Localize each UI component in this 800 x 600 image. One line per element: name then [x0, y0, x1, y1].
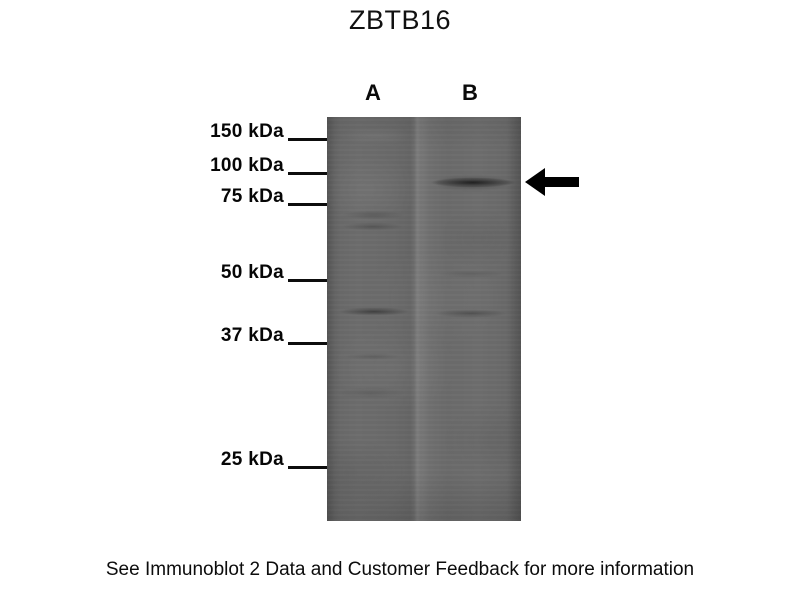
band-lane-b-85kda-halo: [423, 171, 521, 195]
marker-label-50-kda: 50 kDa: [150, 262, 284, 284]
marker-tick-100-kda: [288, 172, 327, 175]
band-lane-a-58kda: [333, 221, 415, 232]
marker-tick-37-kda: [288, 342, 327, 345]
band-lane-a-35kda: [335, 352, 411, 361]
marker-75-kda: 75 kDa: [150, 186, 330, 208]
band-lane-b-41kda: [425, 308, 517, 319]
blot-membrane: [327, 117, 521, 521]
membrane-vignette: [327, 117, 521, 521]
marker-label-150-kda: 150 kDa: [150, 121, 284, 143]
band-lane-a-62kda: [331, 209, 415, 221]
marker-tick-150-kda: [288, 138, 327, 141]
page-title: ZBTB16: [0, 4, 800, 36]
marker-25-kda: 25 kDa: [150, 449, 330, 471]
band-lane-a-smear-top: [327, 125, 419, 147]
marker-100-kda: 100 kDa: [150, 155, 330, 177]
figure-caption: See Immunoblot 2 Data and Customer Feedb…: [0, 558, 800, 582]
band-lane-a-bottom-smear: [327, 385, 415, 401]
lane-label-b: B: [450, 80, 490, 106]
marker-37-kda: 37 kDa: [150, 325, 330, 347]
lane-label-a: A: [353, 80, 393, 106]
marker-label-37-kda: 37 kDa: [150, 325, 284, 347]
band-lane-a-42kda: [329, 306, 419, 317]
marker-label-25-kda: 25 kDa: [150, 449, 284, 471]
marker-tick-25-kda: [288, 466, 327, 469]
membrane-texture: [327, 117, 521, 521]
lane-divider: [414, 117, 421, 521]
marker-tick-50-kda: [288, 279, 327, 282]
arrow-left-icon: [525, 164, 579, 200]
marker-150-kda: 150 kDa: [150, 121, 330, 143]
marker-label-75-kda: 75 kDa: [150, 186, 284, 208]
marker-label-100-kda: 100 kDa: [150, 155, 284, 177]
marker-50-kda: 50 kDa: [150, 262, 330, 284]
band-lane-b-52kda: [429, 269, 515, 279]
marker-tick-75-kda: [288, 203, 327, 206]
band-lane-b-85kda-target: [427, 177, 519, 188]
